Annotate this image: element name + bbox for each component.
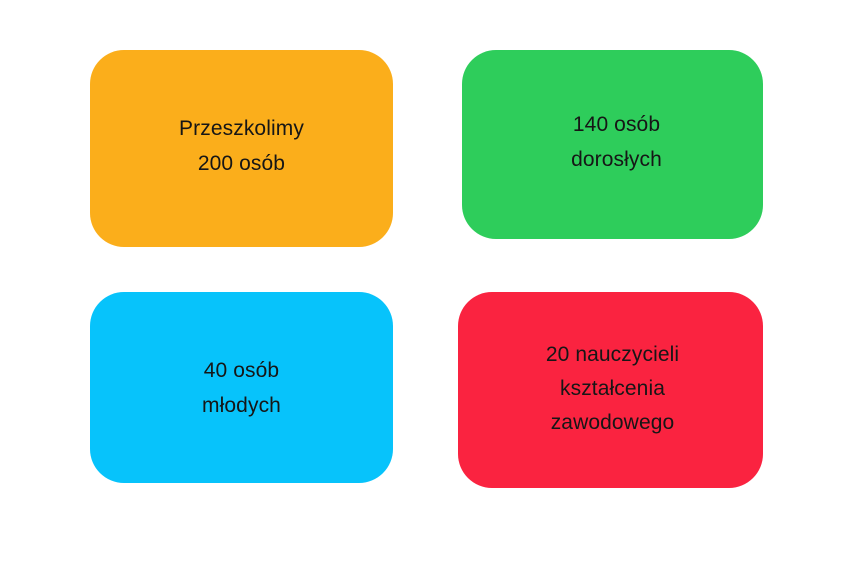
stat-card-blue[interactable]: 40 osób młodych: [90, 292, 393, 483]
stat-card-orange-label: Przeszkolimy 200 osób: [165, 112, 318, 180]
infographic-container: Przeszkolimy 200 osób 140 osób dorosłych…: [0, 0, 865, 572]
stat-card-blue-label: 40 osób młodych: [188, 354, 295, 422]
stat-card-red[interactable]: 20 nauczycieli kształcenia zawodowego: [458, 292, 763, 488]
stat-card-green[interactable]: 140 osób dorosłych: [462, 50, 763, 239]
stat-card-red-label: 20 nauczycieli kształcenia zawodowego: [532, 338, 693, 440]
stat-card-green-label: 140 osób dorosłych: [557, 108, 676, 176]
stat-card-orange[interactable]: Przeszkolimy 200 osób: [90, 50, 393, 247]
